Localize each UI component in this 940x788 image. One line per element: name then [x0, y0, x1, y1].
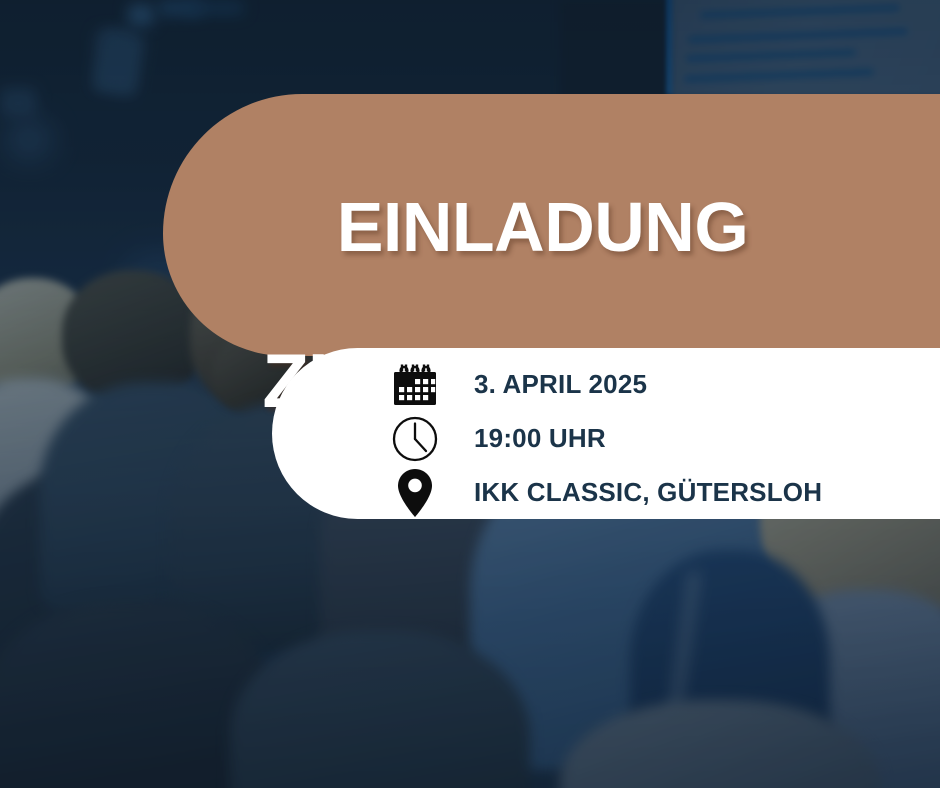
event-time-label: 19:00 UHR [474, 423, 606, 454]
event-date-label: 3. APRIL 2025 [474, 369, 647, 400]
calendar-icon [388, 360, 442, 410]
event-details-list: 3. APRIL 2025 19:00 UHR IKK CLASSIC, [388, 358, 928, 519]
event-detail-time: 19:00 UHR [388, 412, 928, 465]
event-invitation-poster: EINLADUNG ZUM VORTRAG [0, 0, 940, 788]
event-detail-date: 3. APRIL 2025 [388, 358, 928, 411]
event-location-label: IKK CLASSIC, GÜTERSLOH [474, 477, 822, 508]
location-pin-icon [388, 468, 442, 518]
event-detail-location: IKK CLASSIC, GÜTERSLOH [388, 466, 928, 519]
headline-line-1: EINLADUNG [163, 191, 922, 264]
clock-icon [388, 414, 442, 464]
